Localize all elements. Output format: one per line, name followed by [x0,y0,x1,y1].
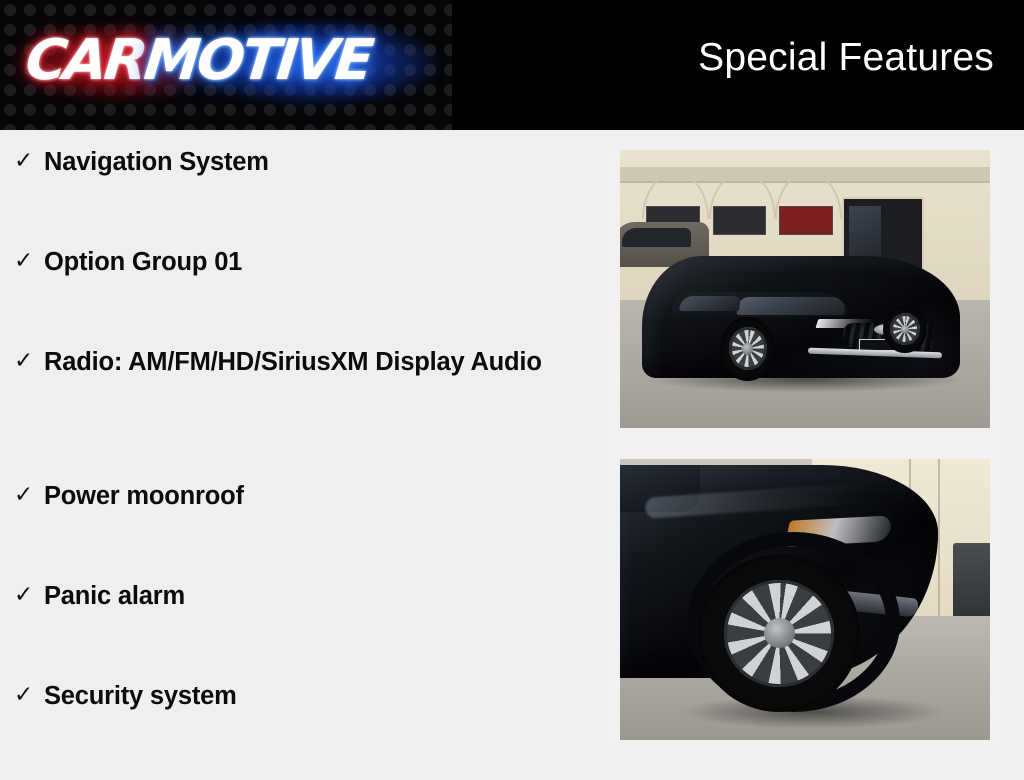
check-icon: ✓ [14,146,44,176]
vehicle-front-three-quarter-photo [620,150,990,428]
check-icon: ✓ [14,346,44,376]
building-window [779,206,833,236]
background-trash-bin [953,543,990,622]
list-item: ✓ Power moonroof [0,480,600,580]
feature-label: Navigation System [44,146,544,179]
special-features-list: ✓ Navigation System ✓ Option Group 01 ✓ … [0,146,600,780]
feature-label: Power moonroof [44,480,544,513]
list-item: ✓ Panic alarm [0,580,600,680]
rim-hub [764,618,795,648]
list-item: ✓ Navigation System [0,146,600,246]
feature-label: Security system [44,680,544,713]
list-item: ✓ Option Group 01 [0,246,600,346]
list-item: ✓ Security system [0,680,600,780]
check-icon: ✓ [14,246,44,276]
wall-seam [938,459,940,622]
alloy-rim [724,580,835,687]
rim-hub [901,325,909,334]
dealership-logo[interactable]: CARMOTIVE [0,0,452,130]
list-item: ✓ Radio: AM/FM/HD/SiriusXM Display Audio [0,346,600,480]
header-banner: CARMOTIVE Special Features [0,0,1024,130]
feature-label: Radio: AM/FM/HD/SiriusXM Display Audio [44,346,544,379]
rim-hub [742,343,753,355]
check-icon: ✓ [14,680,44,710]
background-suv-window [622,228,691,247]
alloy-rim [890,313,920,345]
sedan-side-window [679,296,742,311]
logo-wordmark: CARMOTIVE [22,26,449,96]
check-icon: ✓ [14,580,44,610]
sedan-windshield [736,297,848,315]
logo-word-car: CAR [23,28,148,93]
vehicle-front-wheel-closeup-photo [620,459,990,740]
feature-label: Panic alarm [44,580,544,613]
logo-word-motive: MOTIVE [141,28,374,93]
check-icon: ✓ [14,480,44,510]
sedan-rear-wheel [883,306,927,353]
alloy-rim [729,327,767,370]
page-title: Special Features [698,34,994,82]
feature-label: Option Group 01 [44,246,544,279]
sedan-front-wheel [720,317,776,381]
building-window [713,206,767,236]
sedan-front-wheel [698,555,861,712]
